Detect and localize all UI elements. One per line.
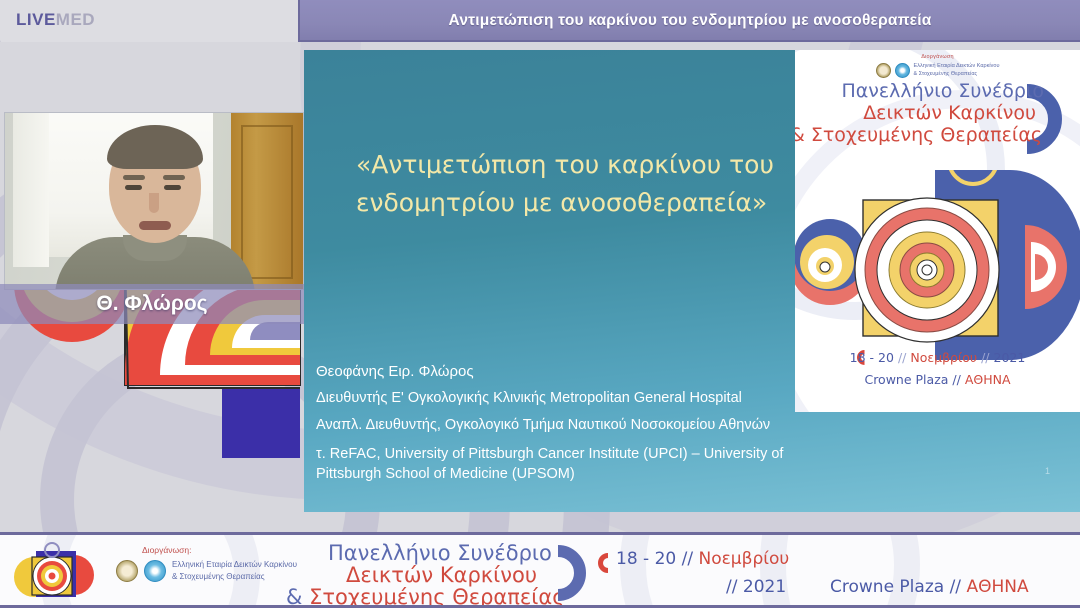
livemed-logo[interactable]: LIVEMED	[16, 10, 95, 30]
poster-venue-sep: //	[952, 372, 960, 387]
video-person-mouth	[139, 221, 171, 230]
slide-number: 1	[1045, 466, 1050, 476]
brand-area: LIVEMED	[0, 0, 300, 42]
poster-date-sep-2: //	[981, 350, 989, 365]
screen: LIVEMED Αντιμετώπιση του καρκίνου του εν…	[0, 0, 1080, 608]
author-name: Θεοφάνης Ειρ. Φλώρος	[316, 358, 846, 385]
banner-date-sep-2: //	[726, 577, 737, 597]
banner-title-line-3: & Στοχευμένης Θεραπείας	[286, 585, 565, 608]
poster-date-days: 18 - 20	[850, 350, 894, 365]
poster-venue-name: Crowne Plaza	[864, 372, 948, 387]
author-affiliation-1: Διευθυντής Ε' Ογκολογικής Κλινικής Metro…	[316, 385, 846, 411]
poster-society-text: Ελληνική Εταιρία Δεικτών Καρκίνου & Στοχ…	[914, 62, 1000, 79]
speaker-name-overlay: Θ. Φλώρος	[0, 284, 304, 324]
video-person-brow-right	[163, 175, 185, 180]
poster-title-line-1: Πανελλήνιο Συνέδριο	[841, 80, 1044, 102]
banner-date: 18 - 20 // Νοεμβρίου	[616, 549, 789, 569]
speaker-name-label: Θ. Φλώρος	[96, 292, 207, 316]
banner-venue: Crowne Plaza // ΑΘΗΝΑ	[830, 577, 1029, 597]
presentation-title: Αντιμετώπιση του καρκίνου του ενδομητρίο…	[300, 0, 1080, 42]
poster-date-year: 2021	[994, 350, 1026, 365]
poster-date-month: Νοεμβρίου	[910, 350, 977, 365]
banner-date-year: 2021	[743, 577, 786, 597]
poster-title-line-3: & Στοχευμένης Θεραπείας	[795, 124, 1042, 146]
video-person-brow-left	[123, 175, 145, 180]
banner-date-month: Νοεμβρίου	[699, 549, 790, 569]
conference-poster: Διοργάνωση Ελληνική Εταιρία Δεικτών Καρκ…	[795, 50, 1080, 412]
poster-venue-city: ΑΘΗΝΑ	[965, 372, 1011, 387]
app-header: LIVEMED Αντιμετώπιση του καρκίνου του εν…	[0, 0, 1080, 42]
banner-society-text: Ελληνική Εταιρία Δεικτών Καρκίνου & Στοχ…	[172, 559, 297, 584]
banner-title-line-2: Δεικτών Καρκίνου	[346, 563, 537, 587]
banner-venue-name: Crowne Plaza	[830, 577, 944, 597]
author-affiliation-3: τ. ReFAC, University of Pittsburgh Cance…	[316, 445, 846, 484]
poster-title-line-2: Δεικτών Καρκίνου	[863, 102, 1036, 124]
banner-date-year-row: // 2021	[726, 577, 786, 597]
banner-date-days: 18 - 20	[616, 549, 676, 569]
banner-society-row: Ελληνική Εταιρία Δεικτών Καρκίνου & Στοχ…	[116, 559, 297, 584]
poster-society-line-2: & Στοχευμένης Θεραπείας	[914, 70, 1000, 78]
banner-venue-city: ΑΘΗΝΑ	[966, 577, 1028, 597]
banner-title-line-1: Πανελλήνιο Συνέδριο	[328, 541, 552, 565]
slide-title: «Αντιμετώπιση του καρκίνου του ενδομητρί…	[356, 146, 826, 221]
poster-artwork	[795, 170, 1080, 360]
slide-viewer[interactable]: «Αντιμετώπιση του καρκίνου του ενδομητρί…	[304, 50, 1080, 512]
video-curtain	[13, 112, 49, 267]
video-person-eye-right	[164, 185, 181, 190]
poster-venue: Crowne Plaza // ΑΘΗΝΑ	[795, 372, 1080, 387]
banner-venue-sep: //	[950, 577, 961, 597]
logo-live-text: LIVE	[16, 10, 56, 29]
poster-date: 18 - 20 // Νοεμβρίου // 2021	[795, 350, 1080, 365]
conference-logo-icon	[12, 541, 98, 605]
banner-society-line-1: Ελληνική Εταιρία Δεικτών Καρκίνου	[172, 559, 297, 571]
poster-date-sep-1: //	[898, 350, 906, 365]
author-affiliation-2: Αναπλ. Διευθυντής, Ογκολογικό Τμήμα Ναυτ…	[316, 412, 846, 438]
conference-banner: Διοργάνωση: Ελληνική Εταιρία Δεικτών Καρ…	[0, 532, 1080, 608]
logo-med-text: MED	[56, 10, 95, 29]
banner-society-line-2: & Στοχευμένης Θεραπείας	[172, 571, 297, 583]
video-person-nose	[149, 193, 159, 213]
speaker-video[interactable]	[4, 112, 304, 290]
poster-society-row: Ελληνική Εταιρία Δεικτών Καρκίνου & Στοχ…	[795, 62, 1080, 79]
society-globe-icon	[895, 63, 910, 78]
poster-society-line-1: Ελληνική Εταιρία Δεικτών Καρκίνου	[914, 62, 1000, 70]
banner-date-moon-icon	[598, 553, 618, 573]
society-seal-icon	[876, 63, 891, 78]
banner-title-line-3-text: Στοχευμένης Θεραπείας	[302, 585, 564, 608]
banner-date-sep-1: //	[682, 549, 693, 569]
banner-society-globe-icon	[144, 560, 166, 582]
video-person-eye-left	[125, 185, 142, 190]
banner-society-seal-icon	[116, 560, 138, 582]
poster-organizer-label: Διοργάνωση	[795, 54, 1080, 60]
banner-title-ampersand: &	[286, 585, 302, 608]
slide-author-block: Θεοφάνης Ειρ. Φλώρος Διευθυντής Ε' Ογκολ…	[316, 358, 846, 484]
banner-organizer-label: Διοργάνωση:	[142, 545, 192, 555]
